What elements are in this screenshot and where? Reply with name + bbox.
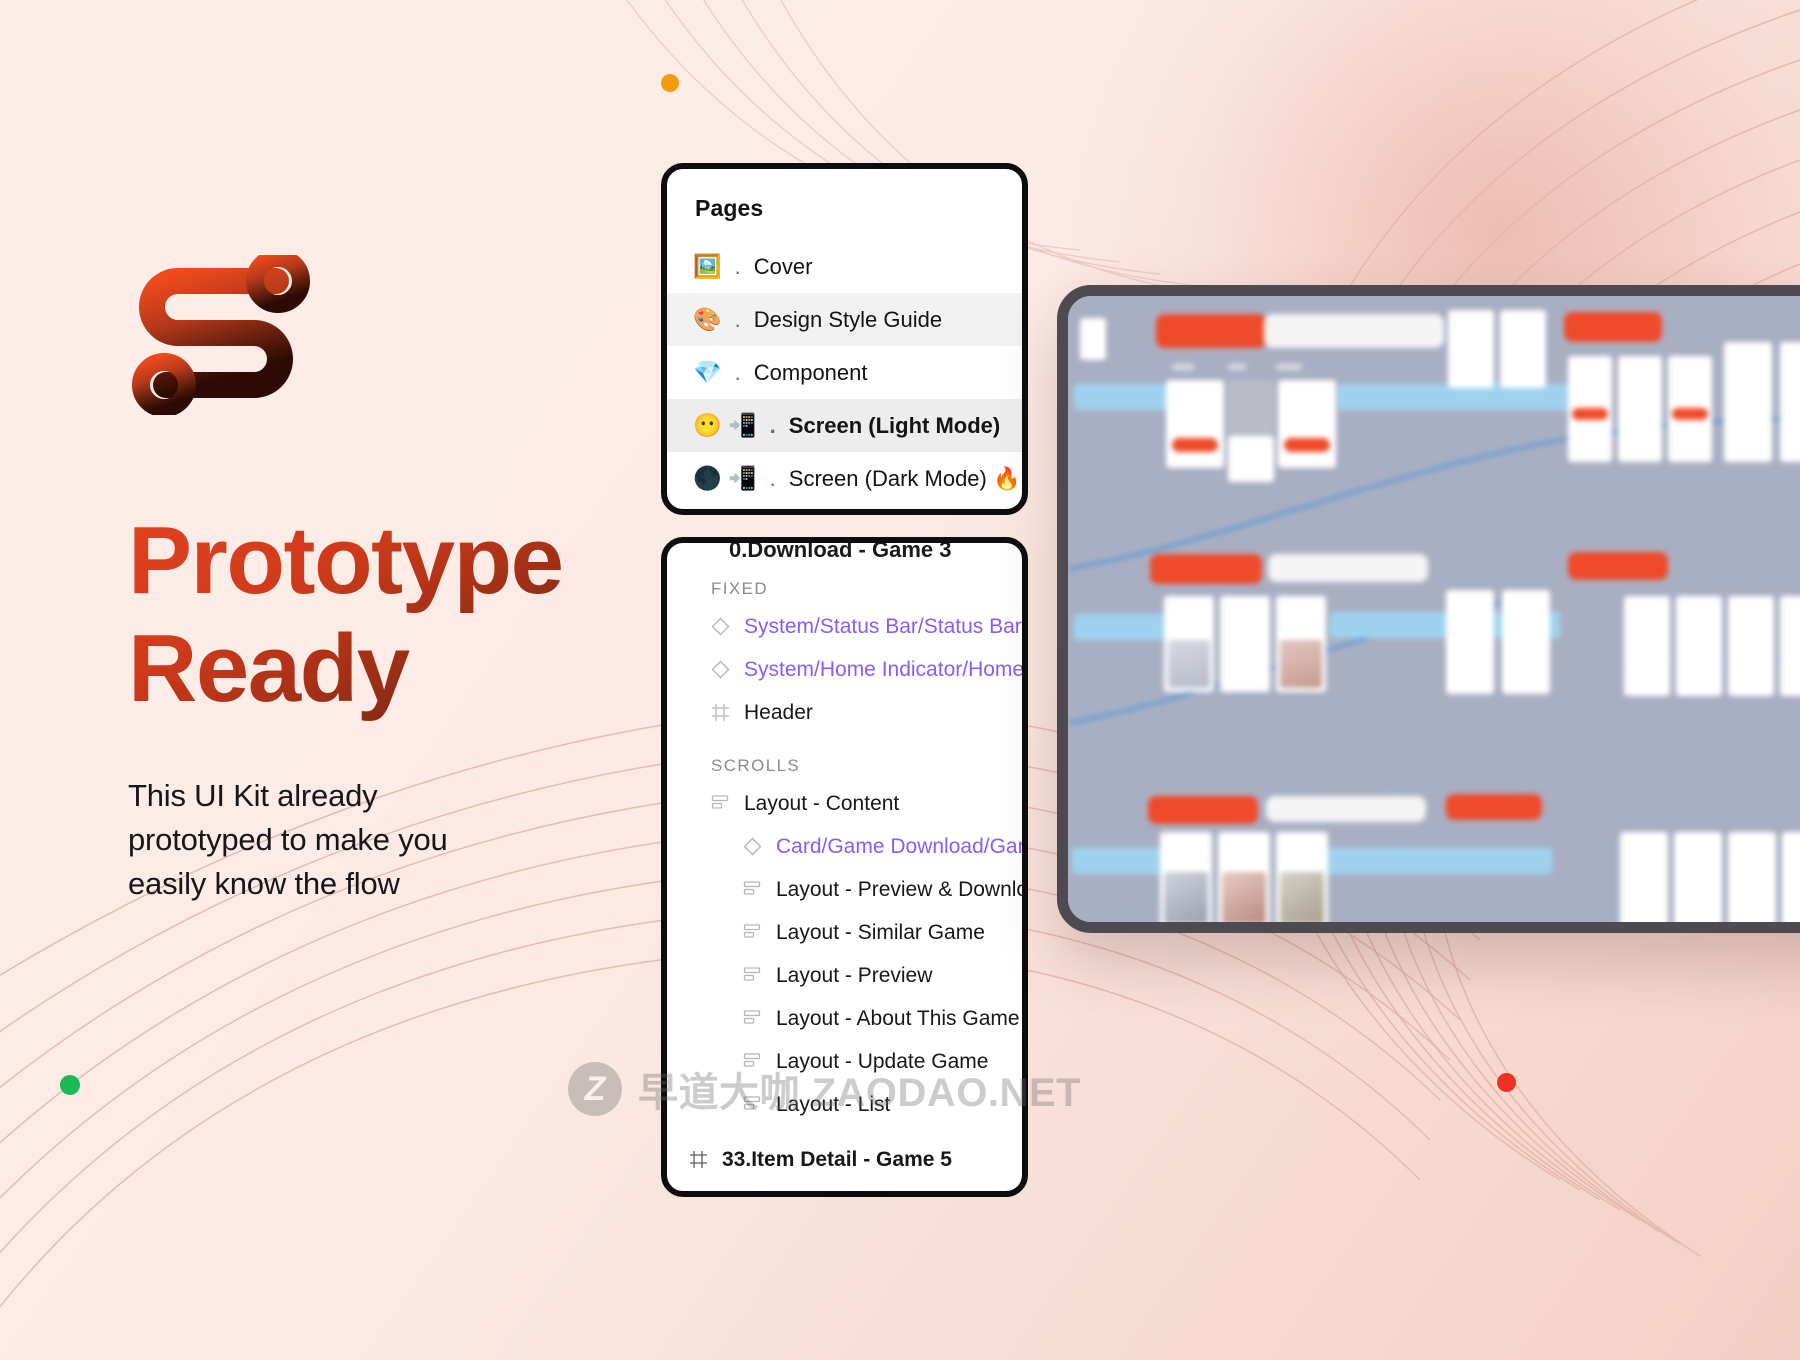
canvas-button [1148, 796, 1258, 824]
page-item-cover[interactable]: 🖼️ . Cover [667, 240, 1022, 293]
canvas-thumbnail [1168, 640, 1210, 688]
pages-panel-title: Pages [667, 169, 1022, 222]
canvas-screen-frame [1278, 380, 1336, 468]
page-separator: . [770, 413, 776, 439]
layer-row-home-indicator[interactable]: System/Home Indicator/Home Indicator [667, 648, 1022, 691]
page-separator: . [770, 466, 776, 492]
layer-row-layout-list[interactable]: Layout - List [667, 1083, 1022, 1126]
canvas-screen-frame [1228, 436, 1274, 482]
canvas-searchbar [1264, 314, 1444, 348]
layer-label: 33.Item Detail - Game 5 [722, 1148, 952, 1172]
layer-label: Layout - Update Game [776, 1050, 988, 1074]
page-item-label: Cover [754, 254, 813, 280]
layer-label: Layout - Similar Game [776, 921, 985, 945]
canvas-section-label [1326, 848, 1552, 874]
canvas-thumbnail [1280, 872, 1324, 924]
layer-label: Layout - Preview [776, 964, 932, 988]
page-separator: . [735, 254, 741, 280]
autolayout-icon [743, 923, 762, 942]
layer-label: Card/Game Download/Game [776, 835, 1022, 859]
prototype-s-logo [128, 255, 313, 415]
tablet-mockup [1057, 285, 1800, 933]
frame-icon [711, 703, 730, 722]
red-dot [1497, 1073, 1516, 1092]
canvas-button [1568, 552, 1668, 580]
canvas-button [1446, 794, 1542, 820]
canvas-text [1276, 364, 1302, 370]
canvas-button [1672, 408, 1708, 420]
frame-icon [689, 1150, 708, 1169]
canvas-screen-frame [1676, 596, 1722, 696]
layer-row-layout-update-game[interactable]: Layout - Update Game [667, 1040, 1022, 1083]
canvas-searchbar [1268, 554, 1428, 582]
component-diamond-icon [711, 660, 730, 679]
layer-label: Layout - About This Game [776, 1007, 1020, 1031]
autolayout-icon [743, 1052, 762, 1071]
layer-row-clipped-top[interactable]: 0.Download - Game 3 [667, 537, 1022, 557]
canvas-screen-frame [1620, 832, 1668, 928]
layer-label: Layout - Content [744, 792, 899, 816]
layer-label: System/Home Indicator/Home Indicator [744, 658, 1022, 682]
layer-row-header[interactable]: Header [667, 691, 1022, 734]
page-separator: . [735, 360, 741, 386]
page-item-design-style-guide[interactable]: 🎨 . Design Style Guide [667, 293, 1022, 346]
page-item-label: Component [754, 360, 868, 386]
canvas-button [1564, 312, 1662, 342]
autolayout-icon [743, 1095, 762, 1114]
component-diamond-icon [743, 837, 762, 856]
canvas-screen-frame [1780, 596, 1800, 696]
figma-pages-panel: Pages 🖼️ . Cover 🎨 . Design Style Guide … [661, 163, 1028, 515]
hero-subcopy: This UI Kit already prototyped to make y… [128, 774, 748, 906]
canvas-screen-frame [1446, 590, 1494, 694]
canvas-screen-frame [1618, 356, 1662, 462]
canvas-screen-frame [1728, 596, 1774, 696]
layer-label: Header [744, 701, 813, 725]
layer-group-fixed-label: FIXED [667, 557, 1022, 605]
autolayout-icon [743, 1009, 762, 1028]
autolayout-icon [743, 966, 762, 985]
canvas-screen-frame [1166, 380, 1224, 468]
page-item-screen-light-mode[interactable]: 😶 📲 . Screen (Light Mode) [667, 399, 1022, 452]
page-item-component[interactable]: 💎 . Component [667, 346, 1022, 399]
page-title: Prototype Ready [128, 507, 748, 722]
canvas-screen-frame [1220, 596, 1270, 692]
layer-label: 32.Item Detail - Game 4 [722, 1191, 952, 1198]
canvas-screen-frame [1502, 590, 1550, 694]
canvas-screen-frame [1724, 342, 1772, 462]
page-item-label: Screen (Light Mode) [789, 413, 1000, 439]
layer-group-scrolls-label: SCROLLS [667, 734, 1022, 782]
canvas-text [1228, 364, 1246, 370]
green-dot [60, 1075, 80, 1095]
layer-label: Layout - Preview & Download Progress [776, 878, 1022, 902]
component-diamond-icon [711, 617, 730, 636]
canvas-screen-frame [1728, 832, 1776, 928]
layer-label: System/Status Bar/Status Bar [744, 615, 1022, 639]
orange-dot [661, 74, 679, 92]
frame-icon [689, 1193, 708, 1197]
canvas-thumbnail [1280, 640, 1322, 688]
canvas-thumbnail [1222, 872, 1266, 924]
layer-row-item-detail-game-4[interactable]: 32.Item Detail - Game 4 [667, 1181, 1022, 1197]
canvas-screen-frame [1782, 832, 1800, 928]
figma-canvas-blurred-content [1068, 296, 1800, 922]
layer-row-item-detail-game-5[interactable]: 33.Item Detail - Game 5 [667, 1138, 1022, 1181]
canvas-button [1572, 408, 1608, 420]
framed-picture-icon: 🖼️ [693, 255, 722, 278]
canvas-screen-frame [1780, 342, 1800, 462]
layer-row-card-game-download[interactable]: Card/Game Download/Game [667, 825, 1022, 868]
layer-row-layout-similar-game[interactable]: Layout - Similar Game [667, 911, 1022, 954]
canvas-screen-frame [1500, 310, 1546, 388]
autolayout-icon [711, 794, 730, 813]
layer-row-layout-content[interactable]: Layout - Content [667, 782, 1022, 825]
face-without-mouth-mobile-icon: 😶 📲 [693, 414, 757, 437]
gem-stone-icon: 💎 [693, 361, 722, 384]
canvas-screen-frame [1674, 832, 1722, 928]
canvas-button [1284, 438, 1330, 452]
canvas-button [1150, 554, 1262, 584]
canvas-screen-frame [1448, 310, 1494, 388]
layer-row-status-bar[interactable]: System/Status Bar/Status Bar [667, 605, 1022, 648]
page-separator: . [735, 307, 741, 333]
canvas-thumbnail [1164, 872, 1208, 924]
canvas-text [1172, 364, 1194, 370]
layer-row-layout-about-this-game[interactable]: Layout - About This Game [667, 997, 1022, 1040]
canvas-screen-frame [1624, 596, 1670, 696]
layer-row-layout-preview-download-progress[interactable]: Layout - Preview & Download Progress [667, 868, 1022, 911]
page-item-label: Screen (Dark Mode) 🔥 [789, 466, 1021, 492]
canvas-searchbar [1266, 796, 1426, 822]
canvas-button [1156, 314, 1266, 348]
canvas-screen-frame [1228, 380, 1274, 440]
page-item-label: Design Style Guide [754, 307, 942, 333]
page-item-screen-dark-mode[interactable]: 🌑 📲 . Screen (Dark Mode) 🔥 [667, 452, 1022, 505]
canvas-frame [1080, 318, 1106, 360]
layer-row-layout-preview[interactable]: Layout - Preview [667, 954, 1022, 997]
layer-label: Layout - List [776, 1093, 890, 1117]
figma-layers-panel: 0.Download - Game 3 FIXED System/Status … [661, 537, 1028, 1197]
artist-palette-icon: 🎨 [693, 308, 722, 331]
hero-section: Prototype Ready This UI Kit already prot… [128, 255, 748, 906]
new-moon-mobile-icon: 🌑 📲 [693, 467, 757, 490]
canvas-button [1172, 438, 1218, 452]
autolayout-icon [743, 880, 762, 899]
